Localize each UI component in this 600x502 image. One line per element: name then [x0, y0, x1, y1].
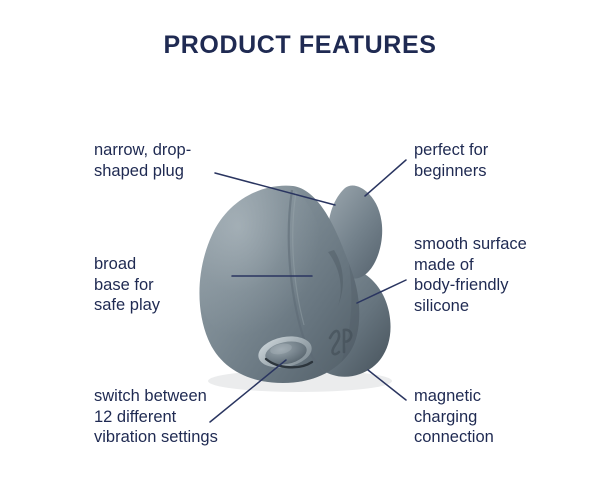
leader-line-perfect [365, 160, 406, 196]
callout-magnetic-charging: magnetic charging connection [414, 386, 574, 448]
callout-smooth-surface: smooth surface made of body-friendly sil… [414, 234, 574, 316]
callout-broad-base: broad base for safe play [94, 254, 224, 316]
product-features-infographic: PRODUCT FEATURES [0, 0, 600, 502]
callout-narrow-drop-shaped-plug: narrow, drop- shaped plug [94, 140, 244, 181]
callout-vibration-settings: switch between 12 different vibration se… [94, 386, 264, 448]
callout-perfect-for-beginners: perfect for beginners [414, 140, 574, 181]
